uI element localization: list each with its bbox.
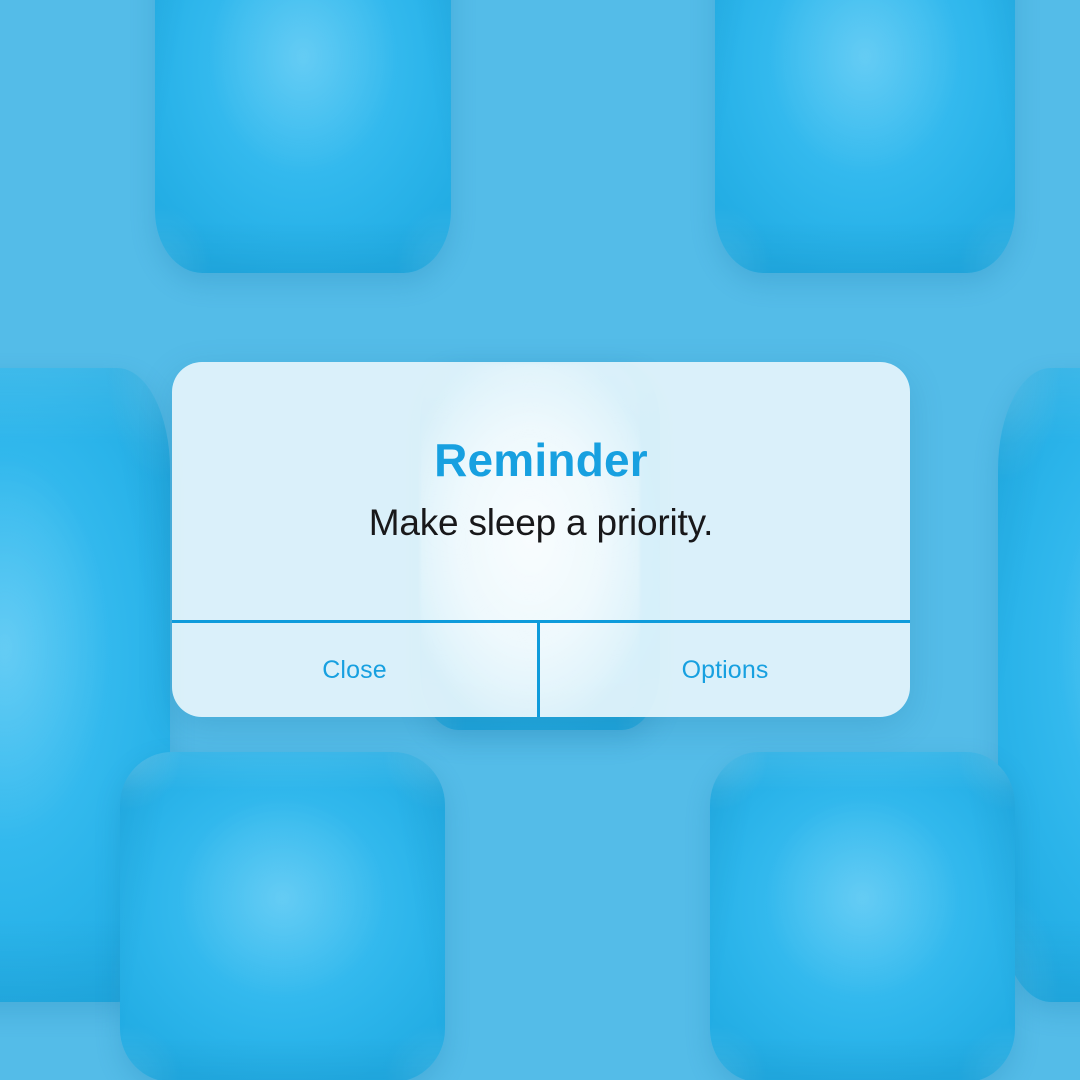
dialog-title: Reminder — [434, 437, 648, 483]
pillow-top-left — [155, 0, 451, 273]
pillow-bottom-left — [120, 752, 445, 1080]
dialog-body: Reminder Make sleep a priority. — [172, 362, 910, 620]
pillow-top-right — [715, 0, 1015, 273]
dialog-action-bar: Close Options — [172, 620, 910, 717]
options-button[interactable]: Options — [540, 623, 910, 717]
reminder-dialog: Reminder Make sleep a priority. Close Op… — [172, 362, 910, 717]
close-button[interactable]: Close — [172, 623, 540, 717]
screenshot-stage: Reminder Make sleep a priority. Close Op… — [0, 0, 1080, 1080]
pillow-bottom-right — [710, 752, 1015, 1080]
dialog-message: Make sleep a priority. — [369, 504, 714, 541]
